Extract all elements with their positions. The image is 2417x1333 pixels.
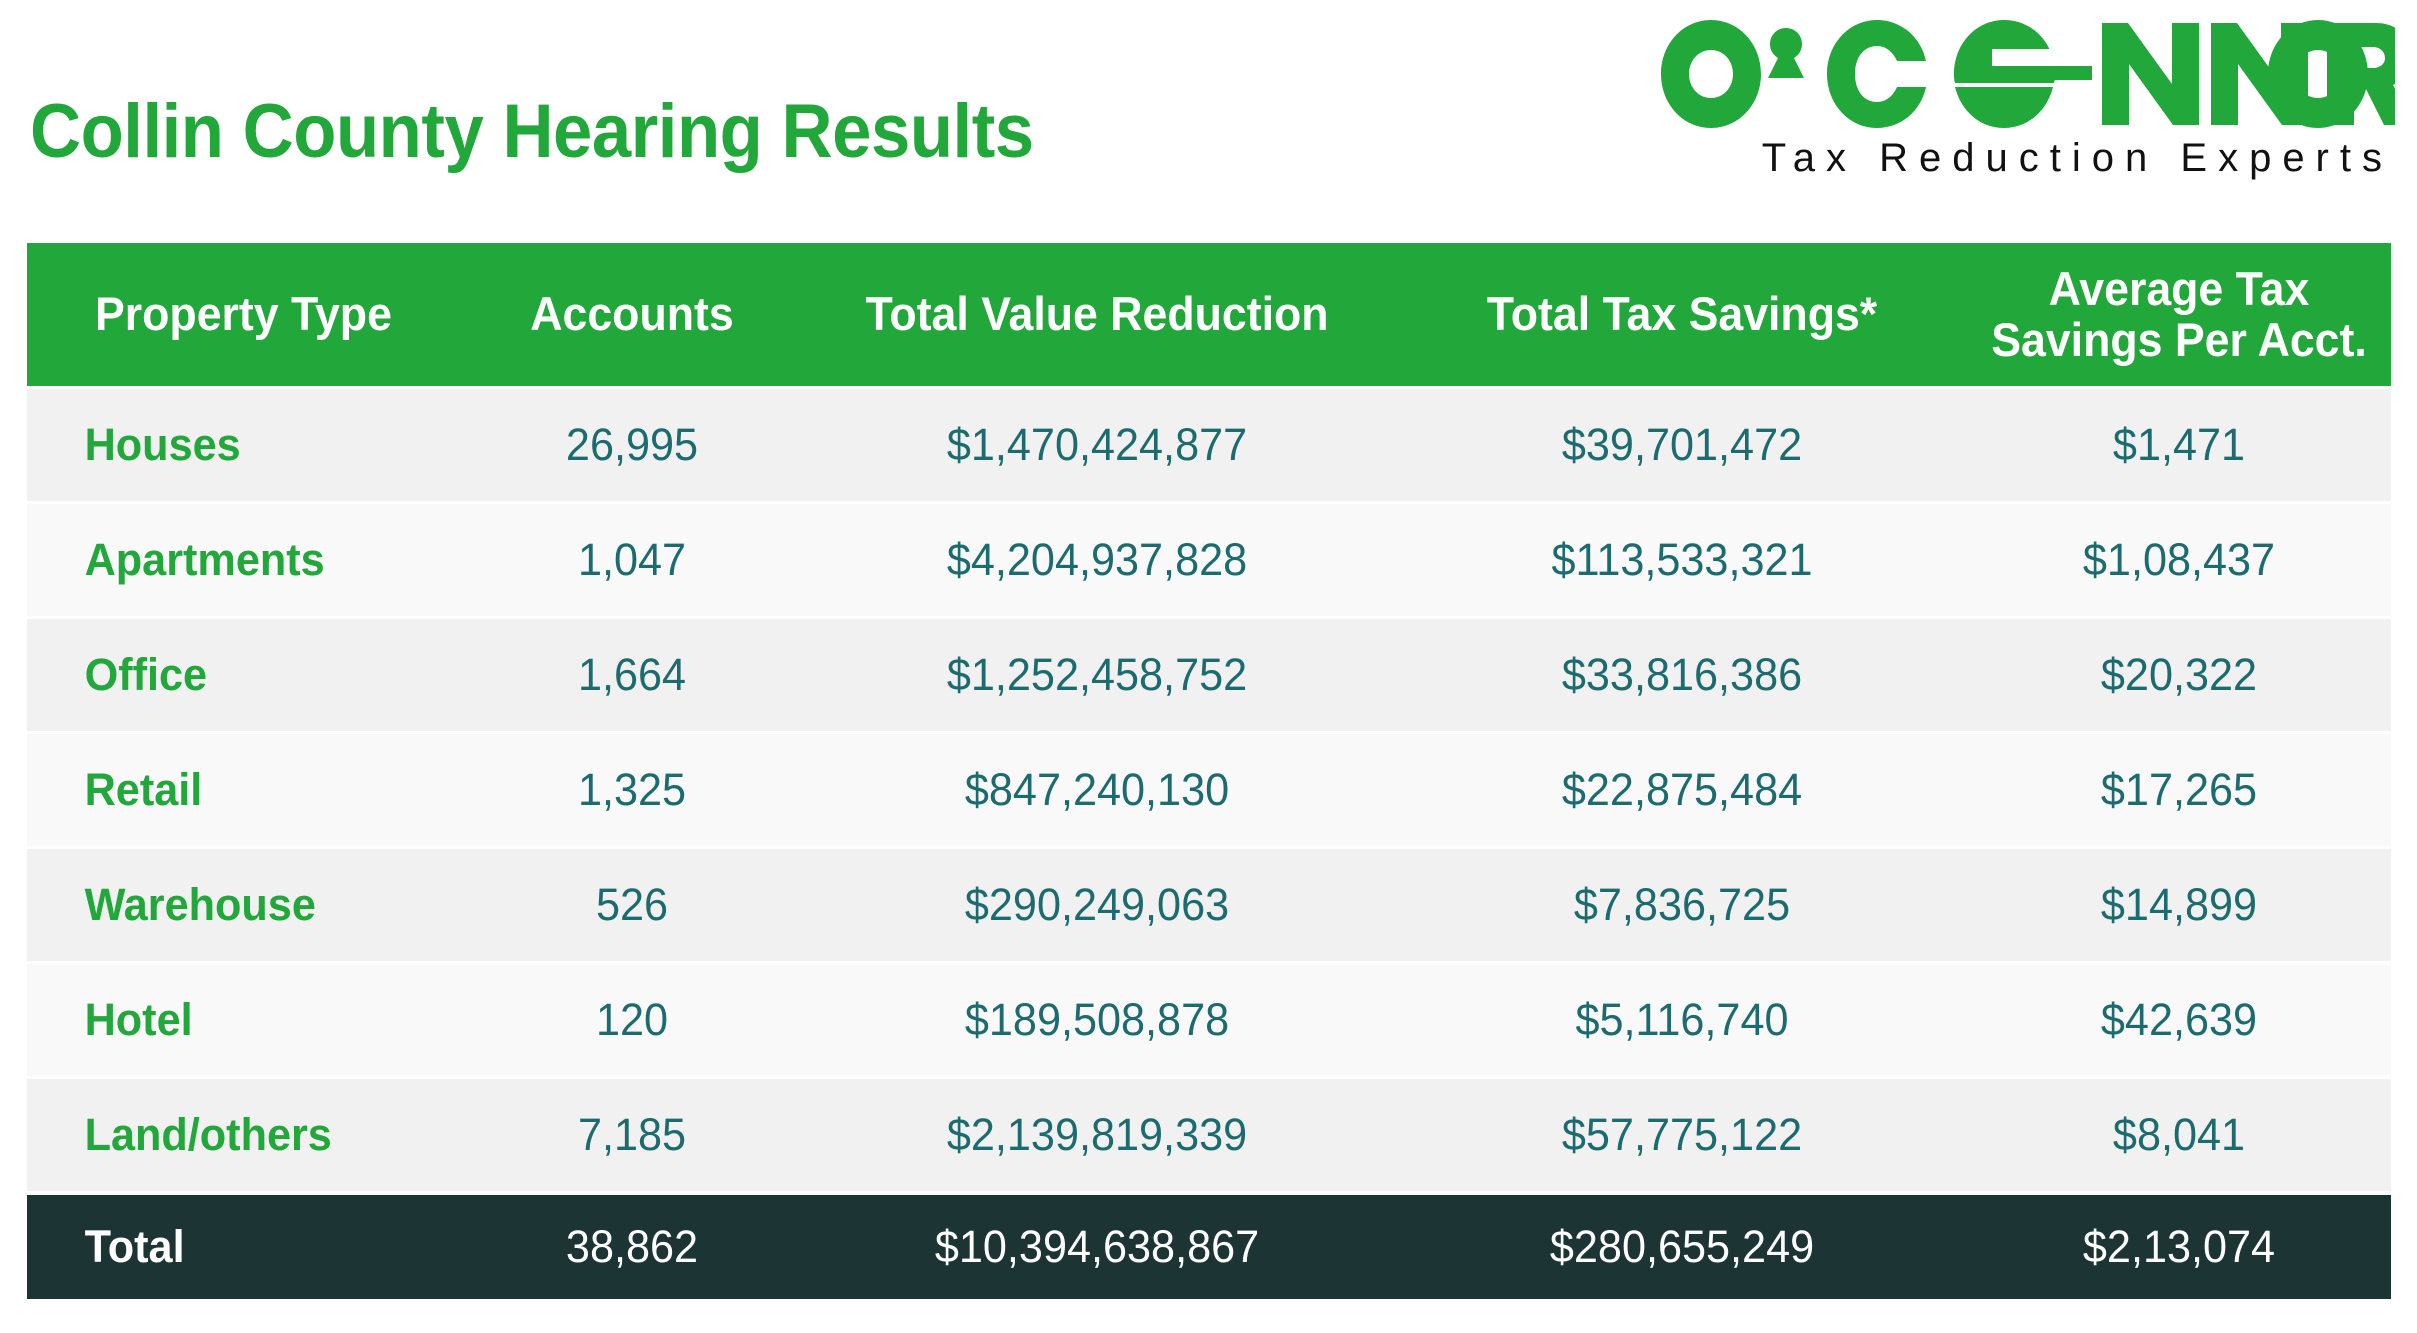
row-total-tax-savings: $113,533,321 xyxy=(1408,534,1955,586)
oconnor-logo: Tax Reduction Experts xyxy=(1635,18,2395,181)
row-total-tax-savings: $33,816,386 xyxy=(1408,649,1955,701)
total-value: $10,394,638,867 xyxy=(809,1221,1385,1273)
row-total-value-reduction: $1,470,424,877 xyxy=(809,419,1385,471)
column-header-total-tax-savings: Total Tax Savings* xyxy=(1411,289,1953,340)
page-header: Collin County Hearing Results xyxy=(0,0,2417,243)
table-header-row: Property Type Accounts Total Value Reduc… xyxy=(27,243,2391,386)
row-average-tax-savings: $14,899 xyxy=(1975,879,2382,931)
total-accounts: 38,862 xyxy=(474,1221,791,1273)
total-savings: $280,655,249 xyxy=(1408,1221,1955,1273)
row-property-type: Land/others xyxy=(27,1109,449,1161)
row-property-type: Retail xyxy=(27,764,449,816)
row-property-type: Apartments xyxy=(27,534,449,586)
row-average-tax-savings: $8,041 xyxy=(1975,1109,2382,1161)
row-total-tax-savings: $39,701,472 xyxy=(1408,419,1955,471)
row-accounts: 120 xyxy=(474,994,791,1046)
column-header-average-tax-savings-per-acct: Average Tax Savings Per Acct. xyxy=(1978,264,2381,366)
row-accounts: 7,185 xyxy=(474,1109,791,1161)
row-accounts: 1,325 xyxy=(474,764,791,816)
logo-tagline: Tax Reduction Experts xyxy=(1635,136,2395,181)
row-average-tax-savings: $42,639 xyxy=(1975,994,2382,1046)
page-title: Collin County Hearing Results xyxy=(30,88,1034,175)
row-accounts: 526 xyxy=(474,879,791,931)
row-accounts: 26,995 xyxy=(474,419,791,471)
row-average-tax-savings: $1,08,437 xyxy=(1975,534,2382,586)
row-total-value-reduction: $4,204,937,828 xyxy=(809,534,1385,586)
oconnor-wordmark-icon xyxy=(1655,18,2395,130)
row-property-type: Warehouse xyxy=(27,879,449,931)
row-total-value-reduction: $847,240,130 xyxy=(809,764,1385,816)
table-row: Retail1,325$847,240,130$22,875,484$17,26… xyxy=(27,734,2391,846)
table-row: Land/others7,185$2,139,819,339$57,775,12… xyxy=(27,1079,2391,1191)
row-total-tax-savings: $22,875,484 xyxy=(1408,764,1955,816)
row-property-type: Office xyxy=(27,649,449,701)
table-body: Houses26,995$1,470,424,877$39,701,472$1,… xyxy=(27,389,2391,1191)
row-accounts: 1,047 xyxy=(474,534,791,586)
table-row: Office1,664$1,252,458,752$33,816,386$20,… xyxy=(27,619,2391,731)
row-average-tax-savings: $17,265 xyxy=(1975,764,2382,816)
column-header-total-value-reduction: Total Value Reduction xyxy=(812,289,1382,340)
row-average-tax-savings: $20,322 xyxy=(1975,649,2382,701)
row-accounts: 1,664 xyxy=(474,649,791,701)
table-row: Houses26,995$1,470,424,877$39,701,472$1,… xyxy=(27,389,2391,501)
table-row: Hotel120$189,508,878$5,116,740$42,639 xyxy=(27,964,2391,1076)
row-property-type: Hotel xyxy=(27,994,449,1046)
total-label: Total xyxy=(27,1221,449,1273)
table-row: Warehouse526$290,249,063$7,836,725$14,89… xyxy=(27,849,2391,961)
column-header-accounts: Accounts xyxy=(475,289,789,340)
hearing-results-table: Property Type Accounts Total Value Reduc… xyxy=(27,243,2391,1299)
row-total-value-reduction: $189,508,878 xyxy=(809,994,1385,1046)
row-total-value-reduction: $2,139,819,339 xyxy=(809,1109,1385,1161)
row-total-tax-savings: $57,775,122 xyxy=(1408,1109,1955,1161)
column-header-property-type: Property Type xyxy=(38,289,456,340)
row-total-value-reduction: $290,249,063 xyxy=(809,879,1385,931)
table-total-row: Total 38,862 $10,394,638,867 $280,655,24… xyxy=(27,1195,2391,1299)
row-average-tax-savings: $1,471 xyxy=(1975,419,2382,471)
row-total-tax-savings: $5,116,740 xyxy=(1408,994,1955,1046)
row-total-tax-savings: $7,836,725 xyxy=(1408,879,1955,931)
total-average: $2,13,074 xyxy=(1975,1221,2382,1273)
row-property-type: Houses xyxy=(27,419,449,471)
row-total-value-reduction: $1,252,458,752 xyxy=(809,649,1385,701)
table-row: Apartments1,047$4,204,937,828$113,533,32… xyxy=(27,504,2391,616)
